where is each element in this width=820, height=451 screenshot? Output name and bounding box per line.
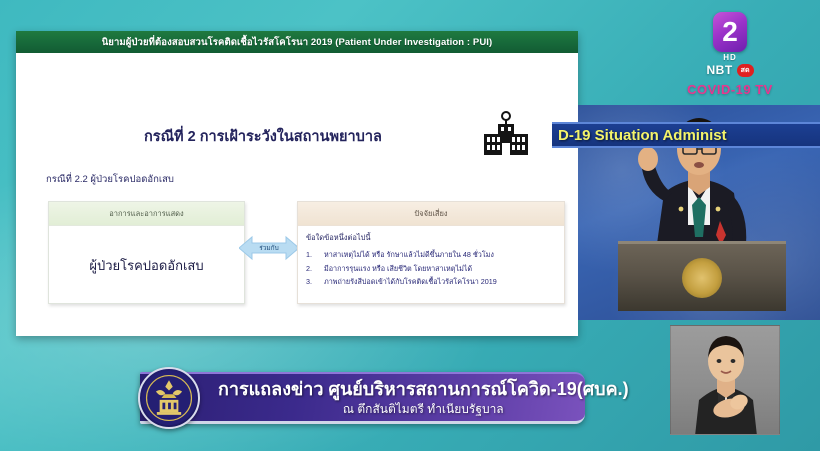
live-badge: สด — [737, 64, 754, 77]
channel-quality-label: HD — [655, 53, 805, 62]
slide-header-title: นิยามผู้ป่วยที่ต้องสอบสวนโรคติดเชื้อไวรั… — [102, 35, 493, 50]
podium — [618, 241, 786, 311]
government-seal-icon — [138, 367, 200, 429]
list-item-text: มีอาการรุนแรง หรือ เสียชีวิต โดยหาสาเหตุ… — [324, 262, 472, 276]
symptoms-card: อาการและอาการแสดง ผู้ป่วยโรคปอดอักเสบ — [48, 201, 245, 304]
risk-factors-card: ปัจจัยเสี่ยง ข้อใดข้อหนึ่งต่อไปนี้ 1. หา… — [297, 201, 565, 304]
slide-header-bar: นิยามผู้ป่วยที่ต้องสอบสวนโรคติดเชื้อไวรั… — [16, 31, 578, 53]
list-item: 1. หาสาเหตุไม่ได้ หรือ รักษาแล้วไม่ดีขึ้… — [306, 248, 556, 262]
slide-case-title: กรณีที่ 2 การเฝ้าระวังในสถานพยาบาล — [144, 125, 382, 148]
risk-factors-card-body: ข้อใดข้อหนึ่งต่อไปนี้ 1. หาสาเหตุไม่ได้ … — [298, 226, 564, 289]
hospital-building-icon — [478, 111, 534, 157]
lower-third-headline: การแถลงข่าว ศูนย์บริหารสถานการณ์โควิด-19… — [218, 379, 629, 400]
situation-banner: D-19 Situation Administ — [552, 122, 820, 148]
connector-arrow-label: ร่วมกับ — [239, 231, 299, 265]
connector-arrow: ร่วมกับ — [239, 231, 299, 265]
symptoms-card-header: อาการและอาการแสดง — [49, 202, 244, 226]
channel-logo: 2 HD NBT สด COVID-19 TV — [655, 12, 805, 100]
channel-number: 2 — [713, 12, 747, 52]
list-item-text: ภาพถ่ายรังสีปอดเข้าได้กับโรคติดเชื้อไวรั… — [324, 275, 497, 289]
list-item-text: หาสาเหตุไม่ได้ หรือ รักษาแล้วไม่ดีขึ้นภา… — [324, 248, 494, 262]
risk-factors-intro: ข้อใดข้อหนึ่งต่อไปนี้ — [306, 232, 556, 244]
list-item-number: 2. — [306, 262, 324, 276]
presentation-slide: นิยามผู้ป่วยที่ต้องสอบสวนโรคติดเชื้อไวรั… — [16, 31, 578, 336]
channel-name-label: NBT — [707, 63, 733, 77]
program-label: COVID-19 TV — [655, 82, 805, 97]
situation-banner-text: D-19 Situation Administ — [558, 127, 727, 144]
lower-third-subline: ณ ตึกสันติไมตรี ทำเนียบรัฐบาล — [218, 402, 629, 416]
symptoms-card-body: ผู้ป่วยโรคปอดอักเสบ — [49, 226, 244, 304]
risk-factors-card-header: ปัจจัยเสี่ยง — [298, 202, 564, 226]
list-item: 3. ภาพถ่ายรังสีปอดเข้าได้กับโรคติดเชื้อไ… — [306, 275, 556, 289]
slide-sub-title: กรณีที่ 2.2 ผู้ป่วยโรคปอดอักเสบ — [46, 172, 174, 187]
list-item-number: 1. — [306, 248, 324, 262]
list-item-number: 3. — [306, 275, 324, 289]
slide-body: กรณีที่ 2 การเฝ้าระวังในสถานพยาบาล — [16, 53, 578, 336]
channel-name-row: NBT สด — [655, 63, 805, 77]
garuda-emblem-icon — [682, 258, 722, 298]
lower-third-banner: การแถลงข่าว ศูนย์บริหารสถานการณ์โควิด-19… — [140, 372, 585, 424]
interpreter-figure — [671, 326, 780, 435]
risk-factors-list: 1. หาสาเหตุไม่ได้ หรือ รักษาแล้วไม่ดีขึ้… — [306, 248, 556, 289]
broadcast-screen: นิยามผู้ป่วยที่ต้องสอบสวนโรคติดเชื้อไวรั… — [0, 0, 820, 451]
list-item: 2. มีอาการรุนแรง หรือ เสียชีวิต โดยหาสาเ… — [306, 262, 556, 276]
sign-language-interpreter-feed — [670, 325, 780, 435]
lower-third-text: การแถลงข่าว ศูนย์บริหารสถานการณ์โควิด-19… — [218, 379, 629, 416]
